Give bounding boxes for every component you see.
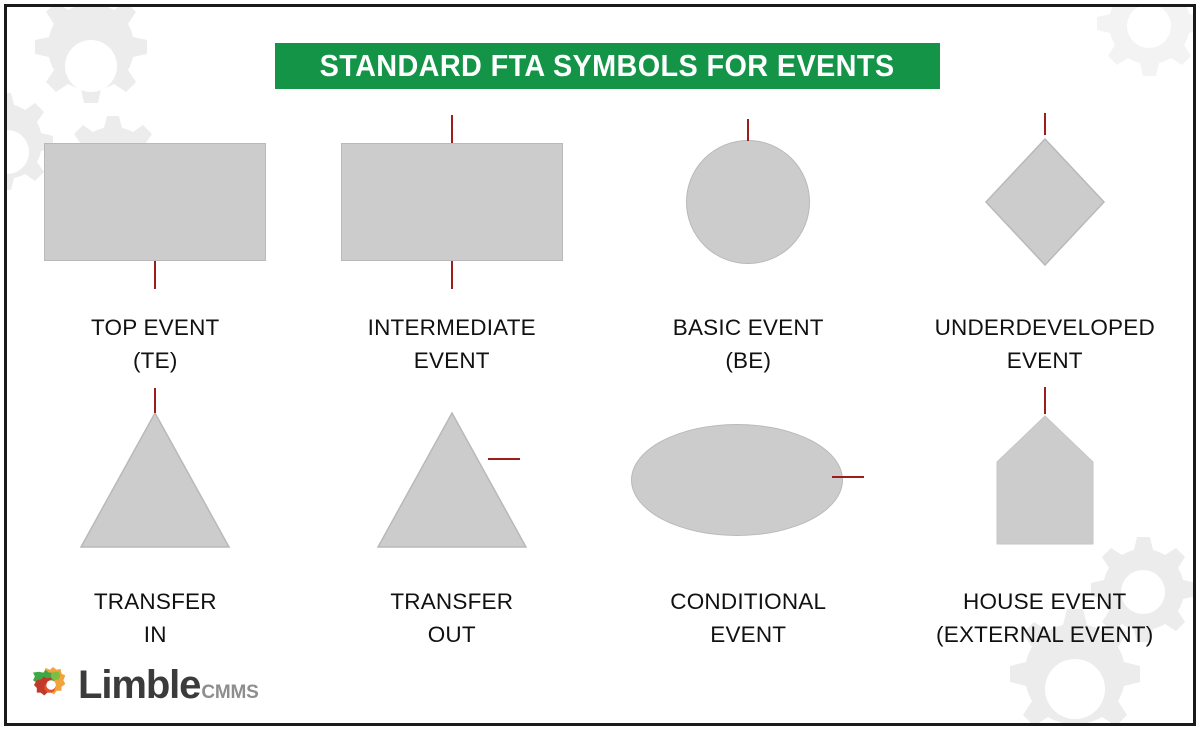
transfer-out-shape-area [304,392,601,567]
connector-line-top [451,115,453,143]
label-line-1: TRANSFER [94,585,217,618]
triangle-shape [374,409,530,551]
symbol-label: TRANSFER IN [94,585,217,651]
symbol-label: UNDERDEVELOPED EVENT [935,311,1155,377]
symbol-label: CONDITIONAL EVENT [670,585,826,651]
symbol-transfer-in[interactable]: TRANSFER IN [7,392,304,662]
symbol-conditional-event[interactable]: CONDITIONAL EVENT [600,392,897,662]
label-line-1: UNDERDEVELOPED [935,311,1155,344]
symbol-label: HOUSE EVENT (EXTERNAL EVENT) [936,585,1153,651]
symbol-transfer-out[interactable]: TRANSFER OUT [304,392,601,662]
symbol-label: TRANSFER OUT [390,585,513,651]
label-line-2: IN [94,618,217,651]
poster-title-banner: STANDARD FTA SYMBOLS FOR EVENTS [275,43,940,89]
label-line-1: BASIC EVENT [673,311,824,344]
logo-suffix: CMMS [201,683,258,705]
limble-gear-icon [33,666,71,704]
transfer-in-shape-area [7,392,304,567]
symbol-basic-event[interactable]: BASIC EVENT (BE) [600,107,897,392]
diamond-shape [982,135,1108,269]
symbol-intermediate-event[interactable]: INTERMEDIATE EVENT [304,107,601,392]
house-event-shape-area [897,392,1194,567]
page-title: STANDARD FTA SYMBOLS FOR EVENTS [320,48,895,84]
symbol-underdeveloped-event[interactable]: UNDERDEVELOPED EVENT [897,107,1194,392]
symbol-label: TOP EVENT (TE) [91,311,220,377]
gears-watermark-top-right [1083,7,1193,117]
house-shape [993,414,1097,546]
label-line-2: (EXTERNAL EVENT) [936,618,1153,651]
top-event-shape-area [7,107,304,297]
symbol-label: BASIC EVENT (BE) [673,311,824,377]
label-line-2: EVENT [368,344,536,377]
label-line-2: EVENT [935,344,1155,377]
fta-symbols-poster: STANDARD FTA SYMBOLS FOR EVENTS TOP EVEN… [0,0,1200,730]
triangle-shape [77,409,233,551]
symbols-row-1: TOP EVENT (TE) INTERMEDIATE EVENT [7,107,1193,392]
label-line-1: CONDITIONAL [670,585,826,618]
ellipse-shape [631,424,843,536]
symbol-house-event[interactable]: HOUSE EVENT (EXTERNAL EVENT) [897,392,1194,662]
underdeveloped-event-shape-area [897,107,1194,297]
connector-line-bottom [451,261,453,289]
symbol-top-event[interactable]: TOP EVENT (TE) [7,107,304,392]
connector-line-right [832,476,864,478]
symbols-grid: TOP EVENT (TE) INTERMEDIATE EVENT [7,107,1193,662]
connector-line-bottom [154,261,156,289]
poster-canvas: STANDARD FTA SYMBOLS FOR EVENTS TOP EVEN… [7,7,1193,723]
label-line-1: INTERMEDIATE [368,311,536,344]
connector-line-top [154,388,156,413]
connector-line-top [1044,113,1046,135]
connector-line-right [488,458,520,460]
intermediate-event-shape-area [304,107,601,297]
connector-line-top [747,119,749,141]
logo-wordmark: Limble [78,665,200,705]
label-line-2: (BE) [673,344,824,377]
symbol-label: INTERMEDIATE EVENT [368,311,536,377]
limble-cmms-logo[interactable]: Limble CMMS [33,665,259,705]
label-line-1: HOUSE EVENT [936,585,1153,618]
label-line-2: OUT [390,618,513,651]
connector-line-top [1044,387,1046,414]
symbols-row-2: TRANSFER IN TRANSF [7,392,1193,662]
label-line-2: (TE) [91,344,220,377]
conditional-event-shape-area [600,392,897,567]
label-line-1: TRANSFER [390,585,513,618]
basic-event-shape-area [600,107,897,297]
rectangle-shape [341,143,563,261]
label-line-1: TOP EVENT [91,311,220,344]
label-line-2: EVENT [670,618,826,651]
rectangle-shape [44,143,266,261]
circle-shape [686,140,810,264]
